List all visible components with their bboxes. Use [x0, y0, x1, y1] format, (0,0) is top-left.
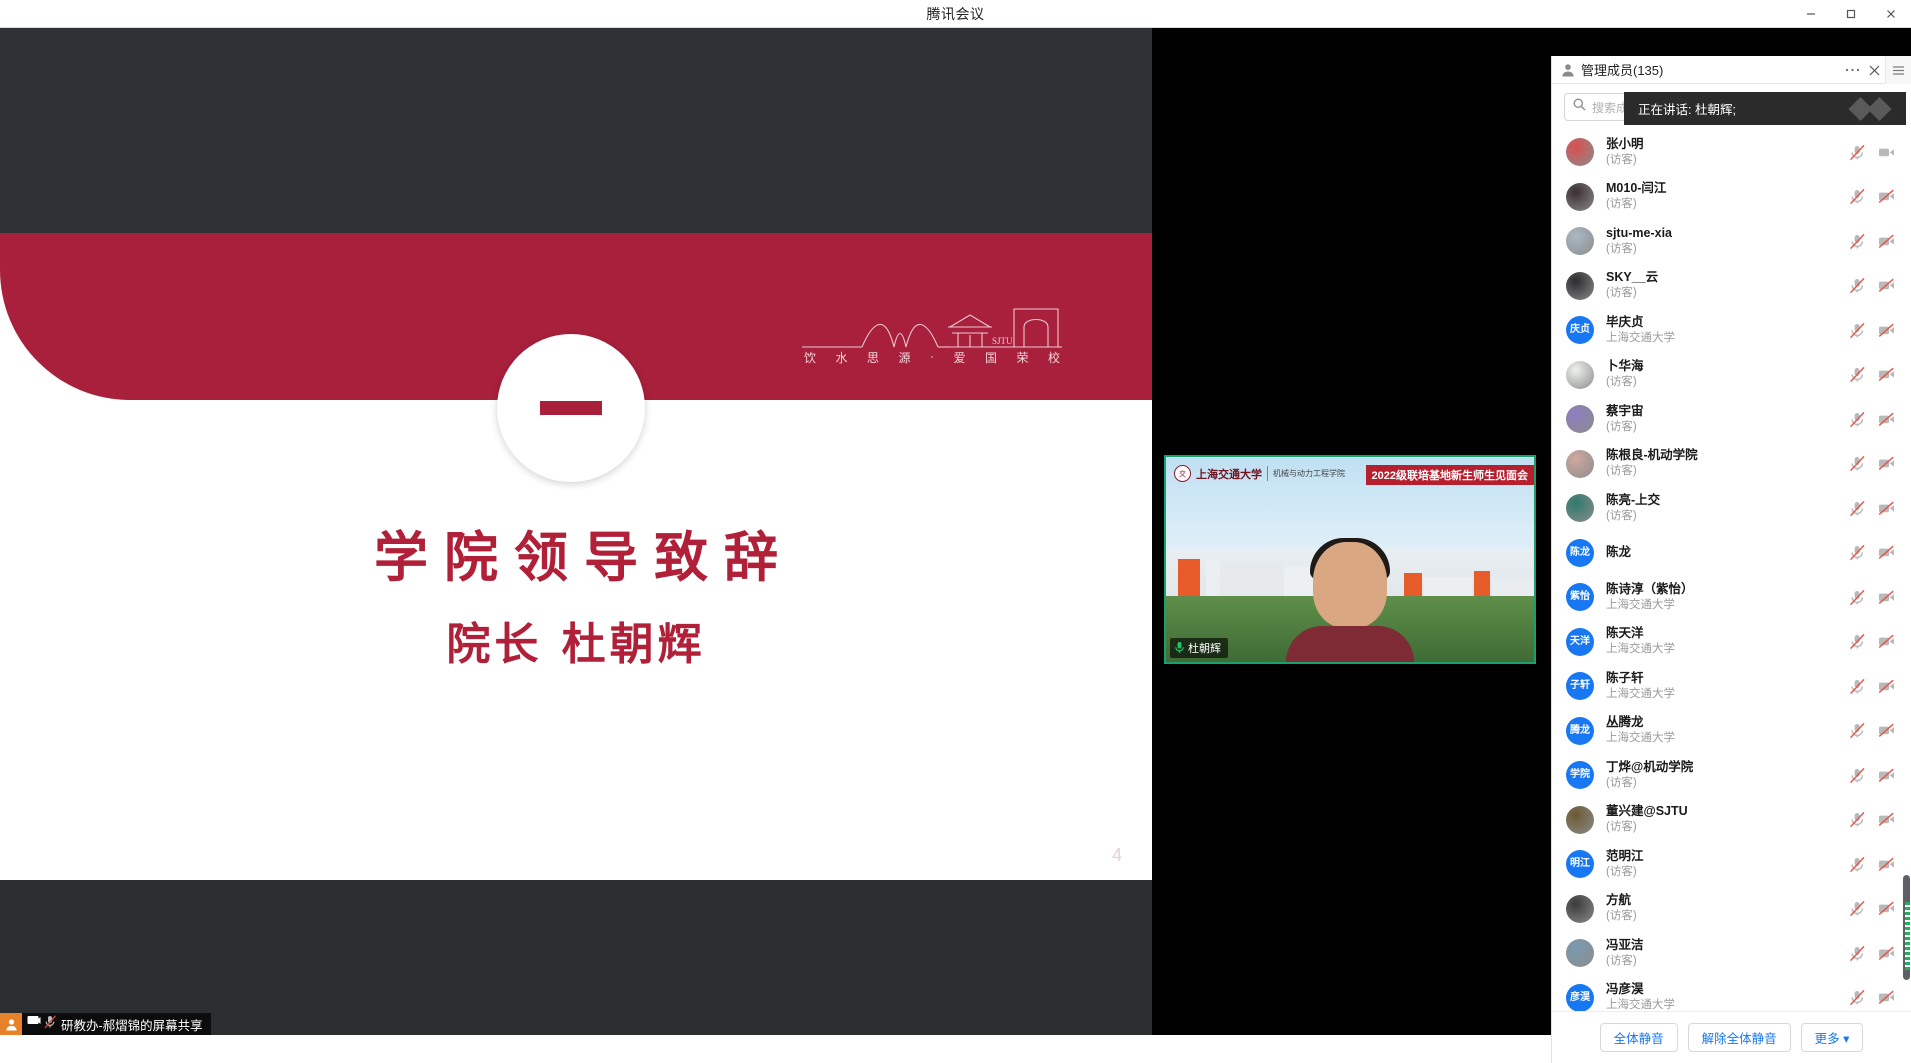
motto-char: 校 — [1048, 349, 1060, 366]
slide-title: 学院领导致辞 — [0, 513, 1152, 592]
camera-off-icon[interactable] — [1878, 277, 1895, 294]
camera-off-icon[interactable] — [1878, 544, 1895, 561]
participant-info: 卜华海(访客) — [1606, 359, 1849, 390]
participant-row[interactable]: 天洋陈天洋上海交通大学 — [1552, 620, 1911, 665]
share-status-icons — [22, 1015, 61, 1034]
participant-name: 陈亮-上交 — [1606, 493, 1849, 508]
participant-info: 陈天洋上海交通大学 — [1606, 626, 1849, 657]
participant-actions — [1849, 856, 1895, 873]
microphone-muted-icon[interactable] — [1849, 767, 1866, 784]
participant-actions — [1849, 366, 1895, 383]
participant-row[interactable]: sjtu-me-xia(访客) — [1552, 219, 1911, 264]
video-logo-sub: 机械与动力工程学院 — [1273, 468, 1345, 479]
microphone-muted-icon[interactable] — [1849, 411, 1866, 428]
participant-info: 陈根良-机动学院(访客) — [1606, 448, 1849, 479]
avatar — [1566, 138, 1594, 166]
slide-letterbox-bottom — [0, 880, 1152, 1035]
participant-actions — [1849, 233, 1895, 250]
participant-row[interactable]: 子轩陈子轩上海交通大学 — [1552, 664, 1911, 709]
sjtu-motto-graphic: SJTU 饮 水 思 源 · 爱 国 荣 校 — [802, 303, 1062, 371]
share-bar-text: 研教办-郝熠锦的屏幕共享 — [61, 1015, 203, 1034]
avatar: 子轩 — [1566, 672, 1594, 700]
participant-info: 陈亮-上交(访客) — [1606, 493, 1849, 524]
participant-name: 张小明 — [1606, 137, 1849, 152]
avatar — [1566, 939, 1594, 967]
participant-info: M010-闫江(访客) — [1606, 181, 1849, 212]
participant-info: 陈龙 — [1606, 545, 1849, 560]
camera-off-icon[interactable] — [1878, 811, 1895, 828]
mute-all-button[interactable]: 全体静音 — [1600, 1023, 1678, 1052]
participant-row[interactable]: 卜华海(访客) — [1552, 353, 1911, 398]
unmute-all-button[interactable]: 解除全体静音 — [1688, 1023, 1791, 1052]
slide-section-badge — [497, 334, 645, 482]
participant-row[interactable]: M010-闫江(访客) — [1552, 175, 1911, 220]
camera-off-icon[interactable] — [1878, 856, 1895, 873]
close-button[interactable] — [1871, 0, 1911, 28]
avatar: 学院 — [1566, 761, 1594, 789]
participant-affiliation: (访客) — [1606, 954, 1849, 969]
avatar — [1566, 227, 1594, 255]
participant-actions — [1849, 633, 1895, 650]
participant-affiliation: 上海交通大学 — [1606, 998, 1849, 1011]
participant-actions — [1849, 767, 1895, 784]
participant-affiliation: (访客) — [1606, 464, 1849, 479]
participant-affiliation: (访客) — [1606, 509, 1849, 524]
avatar — [1566, 450, 1594, 478]
participant-affiliation: 上海交通大学 — [1606, 331, 1849, 346]
participant-actions — [1849, 811, 1895, 828]
participant-name: M010-闫江 — [1606, 181, 1849, 196]
motto-char: 源 — [899, 349, 911, 366]
camera-off-icon[interactable] — [1878, 500, 1895, 517]
microphone-muted-icon[interactable] — [1849, 544, 1866, 561]
microphone-active-icon — [1174, 641, 1185, 656]
camera-off-icon[interactable] — [1878, 989, 1895, 1006]
avatar: 天洋 — [1566, 628, 1594, 656]
participant-affiliation: (访客) — [1606, 242, 1849, 257]
slide-page-number: 4 — [1112, 845, 1122, 866]
video-speaker-name: 杜朝辉 — [1188, 640, 1221, 656]
participant-row[interactable]: 方航(访客) — [1552, 887, 1911, 932]
participant-info: 丁烨@机动学院(访客) — [1606, 760, 1849, 791]
microphone-muted-icon[interactable] — [1849, 500, 1866, 517]
slide-canvas: SJTU 饮 水 思 源 · 爱 国 荣 校 — [0, 233, 1152, 880]
participant-name: 毕庆贞 — [1606, 315, 1849, 330]
participant-affiliation: (访客) — [1606, 776, 1849, 791]
camera-off-icon[interactable] — [1878, 366, 1895, 383]
microphone-muted-icon[interactable] — [1849, 945, 1866, 962]
person-icon — [1561, 63, 1575, 77]
participant-actions — [1849, 500, 1895, 517]
participant-info: SKY__云(访客) — [1606, 270, 1849, 301]
avatar — [1566, 272, 1594, 300]
video-event-banner: 2022级联培基地新生师生见面会 — [1366, 465, 1534, 485]
participant-actions — [1849, 277, 1895, 294]
panel-header: 管理成员(135) — [1552, 56, 1911, 84]
camera-off-icon[interactable] — [1878, 900, 1895, 917]
participant-affiliation: 上海交通大学 — [1606, 687, 1849, 702]
figure-head — [1313, 542, 1387, 628]
microphone-muted-icon — [44, 1015, 57, 1034]
participant-actions — [1849, 144, 1895, 161]
microphone-muted-icon[interactable] — [1849, 856, 1866, 873]
participant-row[interactable]: 腾龙丛腾龙上海交通大学 — [1552, 709, 1911, 754]
participant-name: 方航 — [1606, 893, 1849, 908]
panel-header-actions — [1841, 56, 1911, 84]
speaking-now-text: 正在讲话: 杜朝辉; — [1638, 99, 1736, 118]
participant-info: sjtu-me-xia(访客) — [1606, 226, 1849, 257]
slide-letterbox-top — [0, 28, 1152, 233]
camera-off-icon[interactable] — [1878, 767, 1895, 784]
participant-actions — [1849, 722, 1895, 739]
participant-info: 毕庆贞上海交通大学 — [1606, 315, 1849, 346]
participant-info: 范明江(访客) — [1606, 849, 1849, 880]
microphone-muted-icon[interactable] — [1849, 322, 1866, 339]
more-options-button[interactable]: 更多 ▾ — [1801, 1023, 1864, 1052]
motto-char: 水 — [836, 349, 848, 366]
participant-row[interactable]: 陈亮-上交(访客) — [1552, 486, 1911, 531]
microphone-muted-icon[interactable] — [1849, 989, 1866, 1006]
participant-actions — [1849, 455, 1895, 472]
badge-dash-icon — [540, 401, 602, 415]
speaking-chevrons-icon — [1852, 100, 1888, 117]
participant-affiliation: (访客) — [1606, 286, 1849, 301]
panel-title: 管理成员(135) — [1581, 60, 1663, 79]
participant-name: 冯彦淏 — [1606, 982, 1849, 997]
avatar — [1566, 405, 1594, 433]
participant-name: 丛腾龙 — [1606, 715, 1849, 730]
participant-row[interactable]: 庆贞毕庆贞上海交通大学 — [1552, 308, 1911, 353]
motto-char: 思 — [867, 349, 879, 366]
participant-name: 陈诗淳（紫怡） — [1606, 582, 1849, 597]
participant-row[interactable]: 蔡宇宙(访客) — [1552, 397, 1911, 442]
camera-off-icon[interactable] — [1878, 455, 1895, 472]
university-seal-icon: 交 — [1174, 465, 1191, 482]
participant-name: 丁烨@机动学院 — [1606, 760, 1849, 775]
participant-name: SKY__云 — [1606, 270, 1849, 285]
participant-name: 陈龙 — [1606, 545, 1849, 560]
participant-name: 陈天洋 — [1606, 626, 1849, 641]
camera-off-icon[interactable] — [1878, 322, 1895, 339]
microphone-muted-icon[interactable] — [1849, 233, 1866, 250]
logo-divider — [1267, 466, 1268, 481]
minimize-button[interactable] — [1791, 0, 1831, 28]
participant-info: 陈诗淳（紫怡）上海交通大学 — [1606, 582, 1849, 613]
camera-off-icon[interactable] — [1878, 411, 1895, 428]
participant-name: sjtu-me-xia — [1606, 226, 1849, 241]
microphone-muted-icon[interactable] — [1849, 589, 1866, 606]
camera-off-icon[interactable] — [1878, 678, 1895, 695]
participant-name: 范明江 — [1606, 849, 1849, 864]
window-title-bar: 腾讯会议 — [0, 0, 1911, 28]
camera-off-icon[interactable] — [1878, 144, 1895, 161]
avatar: 彦淏 — [1566, 984, 1594, 1011]
participant-info: 陈子轩上海交通大学 — [1606, 671, 1849, 702]
svg-text:SJTU: SJTU — [992, 336, 1013, 346]
screen-share-icon — [27, 1015, 41, 1033]
participant-info: 方航(访客) — [1606, 893, 1849, 924]
video-logo-main: 上海交通大学 — [1196, 466, 1262, 482]
participant-actions — [1849, 678, 1895, 695]
participant-info: 冯彦淏上海交通大学 — [1606, 982, 1849, 1011]
participant-affiliation: (访客) — [1606, 153, 1849, 168]
participant-affiliation: 上海交通大学 — [1606, 598, 1849, 613]
screen-share-indicator-bar: 研教办-郝熠锦的屏幕共享 — [0, 1013, 211, 1035]
motto-characters: 饮 水 思 源 · 爱 国 荣 校 — [802, 349, 1062, 366]
microphone-muted-icon[interactable] — [1849, 144, 1866, 161]
panel-dock-grip-icon[interactable] — [1885, 56, 1911, 84]
presentation-slide: SJTU 饮 水 思 源 · 爱 国 荣 校 — [0, 28, 1152, 1035]
avatar — [1566, 361, 1594, 389]
participant-list[interactable]: 张小明(访客)M010-闫江(访客)sjtu-me-xia(访客)SKY__云(… — [1552, 130, 1911, 1011]
participant-name: 卜华海 — [1606, 359, 1849, 374]
participant-row[interactable]: SKY__云(访客) — [1552, 264, 1911, 309]
participant-affiliation: (访客) — [1606, 197, 1849, 212]
microphone-muted-icon[interactable] — [1849, 811, 1866, 828]
participants-panel: 管理成员(135) 搜索成员 正在讲话: 杜 — [1551, 56, 1911, 1063]
share-user-avatar — [0, 1013, 22, 1035]
avatar: 腾龙 — [1566, 717, 1594, 745]
panel-footer: 全体静音 解除全体静音 更多 ▾ — [1552, 1011, 1911, 1063]
participant-info: 张小明(访客) — [1606, 137, 1849, 168]
participant-row[interactable]: 明江范明江(访客) — [1552, 842, 1911, 887]
avatar — [1566, 183, 1594, 211]
microphone-muted-icon[interactable] — [1849, 366, 1866, 383]
participant-info: 丛腾龙上海交通大学 — [1606, 715, 1849, 746]
participant-row[interactable]: 紫怡陈诗淳（紫怡）上海交通大学 — [1552, 575, 1911, 620]
avatar — [1566, 806, 1594, 834]
participant-row[interactable]: 彦淏冯彦淏上海交通大学 — [1552, 976, 1911, 1012]
participant-row[interactable]: 冯亚洁(访客) — [1552, 931, 1911, 976]
speaking-now-toast: 正在讲话: 杜朝辉; — [1624, 92, 1906, 125]
video-participant-figure — [1285, 542, 1415, 662]
participant-name: 董兴建@SJTU — [1606, 804, 1849, 819]
search-row: 搜索成员 正在讲话: 杜朝辉; — [1552, 84, 1911, 130]
participant-row[interactable]: 陈根良-机动学院(访客) — [1552, 442, 1911, 487]
avatar: 明江 — [1566, 850, 1594, 878]
participant-name: 陈根良-机动学院 — [1606, 448, 1849, 463]
participant-actions — [1849, 188, 1895, 205]
participant-actions — [1849, 544, 1895, 561]
participant-name: 陈子轩 — [1606, 671, 1849, 686]
participant-affiliation: (访客) — [1606, 865, 1849, 880]
participant-actions — [1849, 589, 1895, 606]
microphone-muted-icon[interactable] — [1849, 188, 1866, 205]
participant-affiliation: (访客) — [1606, 420, 1849, 435]
camera-off-icon[interactable] — [1878, 945, 1895, 962]
participant-affiliation: 上海交通大学 — [1606, 731, 1849, 746]
microphone-muted-icon[interactable] — [1849, 900, 1866, 917]
app-title: 腾讯会议 — [927, 4, 985, 24]
participant-affiliation: (访客) — [1606, 820, 1849, 835]
participant-info: 冯亚洁(访客) — [1606, 938, 1849, 969]
maximize-button[interactable] — [1831, 0, 1871, 28]
participant-row[interactable]: 学院丁烨@机动学院(访客) — [1552, 753, 1911, 798]
meeting-stage: SJTU 饮 水 思 源 · 爱 国 荣 校 — [0, 28, 1911, 1035]
participant-name: 冯亚洁 — [1606, 938, 1849, 953]
participant-affiliation: (访客) — [1606, 909, 1849, 924]
figure-body — [1286, 626, 1414, 662]
camera-off-icon[interactable] — [1878, 188, 1895, 205]
microphone-muted-icon[interactable] — [1849, 678, 1866, 695]
camera-off-icon[interactable] — [1878, 233, 1895, 250]
camera-off-icon[interactable] — [1878, 589, 1895, 606]
microphone-muted-icon[interactable] — [1849, 722, 1866, 739]
avatar — [1566, 895, 1594, 923]
participant-info: 董兴建@SJTU(访客) — [1606, 804, 1849, 835]
motto-char: 国 — [985, 349, 997, 366]
video-overlay-logo: 交 上海交通大学 机械与动力工程学院 — [1174, 465, 1345, 482]
participant-actions — [1849, 322, 1895, 339]
camera-off-icon[interactable] — [1878, 633, 1895, 650]
participant-affiliation: (访客) — [1606, 375, 1849, 390]
camera-off-icon[interactable] — [1878, 722, 1895, 739]
slide-subtitle: 院长 杜朝辉 — [0, 608, 1152, 672]
participant-row[interactable]: 董兴建@SJTU(访客) — [1552, 798, 1911, 843]
participant-name: 蔡宇宙 — [1606, 404, 1849, 419]
participant-actions — [1849, 945, 1895, 962]
motto-char: · — [930, 349, 934, 366]
speaker-video-tile[interactable]: 交 上海交通大学 机械与动力工程学院 2022级联培基地新生师生见面会 杜朝辉 — [1164, 455, 1536, 664]
participant-affiliation: 上海交通大学 — [1606, 642, 1849, 657]
motto-char: 荣 — [1016, 349, 1028, 366]
avatar: 庆贞 — [1566, 316, 1594, 344]
window-controls — [1791, 0, 1911, 28]
avatar: 陈龙 — [1566, 539, 1594, 567]
video-name-label: 杜朝辉 — [1170, 638, 1228, 658]
avatar — [1566, 494, 1594, 522]
panel-close-icon[interactable] — [1863, 56, 1885, 84]
microphone-muted-icon[interactable] — [1849, 633, 1866, 650]
participant-info: 蔡宇宙(访客) — [1606, 404, 1849, 435]
participant-actions — [1849, 900, 1895, 917]
microphone-muted-icon[interactable] — [1849, 277, 1866, 294]
participant-actions — [1849, 411, 1895, 428]
shared-screen-area[interactable]: SJTU 饮 水 思 源 · 爱 国 荣 校 — [0, 28, 1152, 1035]
participant-row[interactable]: 张小明(访客) — [1552, 130, 1911, 175]
motto-char: 饮 — [804, 349, 816, 366]
search-icon — [1573, 98, 1586, 116]
participant-actions — [1849, 989, 1895, 1006]
audio-level-meter — [1905, 902, 1910, 970]
panel-more-icon[interactable] — [1841, 56, 1863, 84]
participant-row[interactable]: 陈龙陈龙 — [1552, 531, 1911, 576]
participant-list-scrollbar[interactable] — [1901, 130, 1910, 1011]
motto-char: 爱 — [953, 349, 965, 366]
microphone-muted-icon[interactable] — [1849, 455, 1866, 472]
avatar: 紫怡 — [1566, 583, 1594, 611]
